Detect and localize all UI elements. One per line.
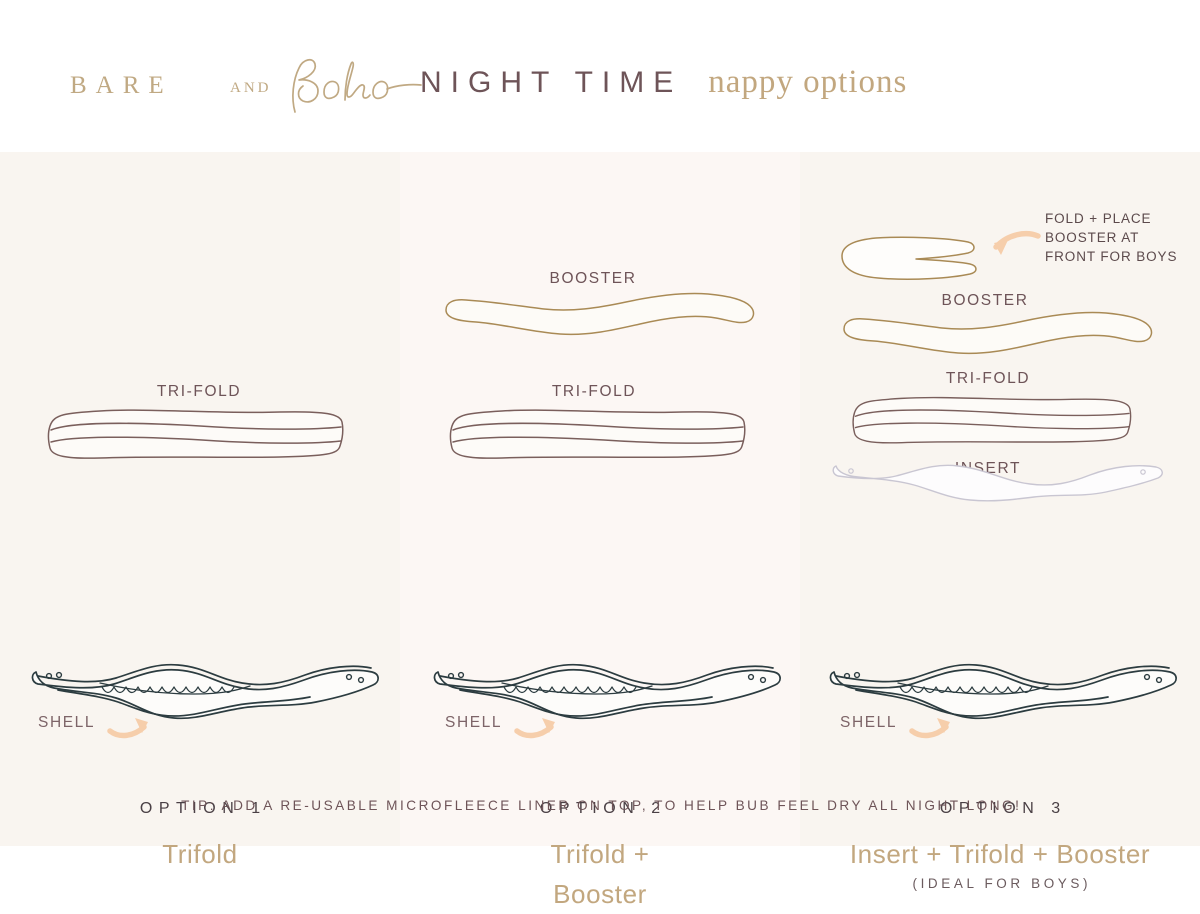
arrow-icon-shell-2 xyxy=(514,708,562,742)
tri-fold-shape-1 xyxy=(40,400,360,470)
title-script: nappy options xyxy=(708,64,907,100)
option-1-name: Trifold xyxy=(0,834,400,874)
option-3-note: (IDEAL FOR BOYS) xyxy=(800,876,1200,891)
callout-line-2: BOOSTER AT xyxy=(1045,228,1177,247)
label-booster-2: BOOSTER xyxy=(550,270,637,288)
folded-booster-shape xyxy=(836,230,996,286)
label-tri-fold-1: TRI-FOLD xyxy=(157,383,241,401)
option-3-diagram: FOLD + PLACE BOOSTER AT FRONT FOR BOYS B… xyxy=(800,152,1200,846)
option-3-name: Insert + Trifold + Booster xyxy=(800,834,1200,874)
infographic-page: BARE AND xyxy=(0,0,1200,846)
page-title: NIGHT TIMEnappy options xyxy=(420,64,907,101)
logo-word-and: AND xyxy=(230,80,272,97)
options-board: TRI-FOLD xyxy=(0,152,1200,846)
header: BARE AND xyxy=(0,0,1200,152)
label-tri-fold-2: TRI-FOLD xyxy=(552,383,636,401)
tri-fold-shape-3 xyxy=(836,388,1156,454)
booster-shape-2 xyxy=(440,288,762,348)
logo-script-boho xyxy=(277,54,417,114)
label-shell-3: SHELL xyxy=(840,714,897,732)
arrow-icon-shell-3 xyxy=(909,708,957,742)
label-shell-2: SHELL xyxy=(445,714,502,732)
option-2-name-line2: Booster xyxy=(400,874,800,914)
callout-fold-place: FOLD + PLACE BOOSTER AT FRONT FOR BOYS xyxy=(1045,209,1177,266)
footer-tip: TIP: ADD A RE-USABLE MICROFLEECE LINER O… xyxy=(0,798,1200,813)
brand-logo: BARE AND xyxy=(62,58,362,118)
label-shell-1: SHELL xyxy=(38,714,95,732)
title-caps: NIGHT TIME xyxy=(420,66,682,99)
option-column-3: FOLD + PLACE BOOSTER AT FRONT FOR BOYS B… xyxy=(800,152,1200,846)
option-column-1: TRI-FOLD xyxy=(0,152,400,846)
option-2-diagram: BOOSTER TRI-FOLD xyxy=(400,152,800,846)
option-2-name-line1: Trifold + xyxy=(400,834,800,874)
option-1-diagram: TRI-FOLD xyxy=(0,152,400,846)
callout-line-3: FRONT FOR BOYS xyxy=(1045,247,1177,266)
booster-shape-3 xyxy=(838,307,1160,359)
callout-line-1: FOLD + PLACE xyxy=(1045,209,1177,228)
arrow-icon-shell-1 xyxy=(107,708,155,742)
insert-shape-3 xyxy=(826,452,1176,504)
option-column-2: BOOSTER TRI-FOLD xyxy=(400,152,800,846)
tri-fold-shape-2 xyxy=(442,400,762,470)
logo-word-bare: BARE xyxy=(70,72,173,100)
label-tri-fold-3: TRI-FOLD xyxy=(946,370,1030,388)
